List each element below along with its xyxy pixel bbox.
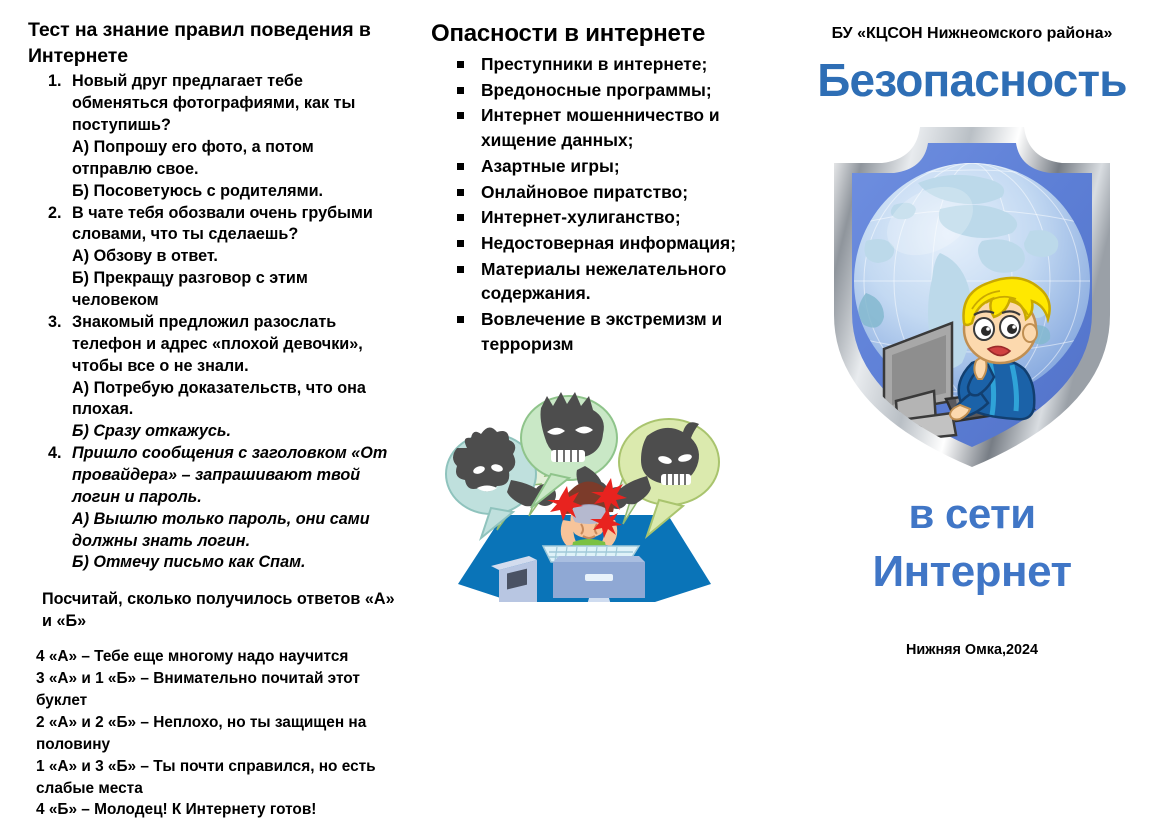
square-bullet-icon: [457, 214, 464, 221]
score-key-list: 4 «А» – Тебе еще многому надо научится 3…: [36, 646, 395, 821]
place-and-year: Нижняя Омка,2024: [789, 642, 1155, 658]
score-heading: Посчитай, сколько получилось ответов «А»…: [42, 588, 395, 632]
score-line: 4 «А» – Тебе еще многому надо научится: [36, 646, 395, 668]
answer-option-a: А) Обзову в ответ.: [72, 246, 395, 268]
answer-option-b: Б) Посоветуюсь с родителями.: [72, 181, 395, 203]
list-item-label: Материалы нежелательного содержания.: [481, 259, 726, 304]
list-item: Интернет-хулиганство;: [457, 205, 763, 230]
square-bullet-icon: [457, 87, 464, 94]
list-item-label: Недостоверная информация;: [481, 233, 736, 253]
cyberbullying-illustration: [433, 370, 733, 602]
page-subtitle: в сети Интернет: [789, 489, 1155, 598]
brochure-page: Тест на знание правил поведения в Интерн…: [0, 0, 1169, 827]
test-question-2: В чате тебя обозвали очень грубыми слова…: [66, 203, 395, 312]
shield-globe-illustration: [822, 113, 1122, 475]
list-item-label: Вовлечение в экстремизм и терроризм: [481, 309, 722, 354]
square-bullet-icon: [457, 240, 464, 247]
list-item-label: Интернет-хулиганство;: [481, 207, 681, 227]
score-line: 1 «А» и 3 «Б» – Ты почти справился, но е…: [36, 756, 395, 800]
column-left-test: Тест на знание правил поведения в Интерн…: [0, 0, 405, 827]
list-item: Вредоносные программы;: [457, 78, 763, 103]
question-text: Знакомый предложил разослать телефон и а…: [72, 312, 395, 378]
answer-option-b: Б) Прекращу разговор с этим человеком: [72, 268, 395, 312]
test-question-3: Знакомый предложил разослать телефон и а…: [66, 312, 395, 443]
answer-option-b: Б) Отмечу письмо как Спам.: [72, 552, 395, 574]
square-bullet-icon: [457, 189, 464, 196]
list-item: Азартные игры;: [457, 154, 763, 179]
test-question-list: Новый друг предлагает тебе обменяться фо…: [28, 71, 395, 574]
square-bullet-icon: [457, 112, 464, 119]
square-bullet-icon: [457, 163, 464, 170]
column-right-cover: БУ «КЦСОН Нижнеомского района» Безопасно…: [775, 0, 1169, 827]
score-line: 4 «Б» – Молодец! К Интернету готов!: [36, 799, 395, 821]
square-bullet-icon: [457, 316, 464, 323]
list-item-label: Вредоносные программы;: [481, 80, 712, 100]
test-question-1: Новый друг предлагает тебе обменяться фо…: [66, 71, 395, 202]
list-item: Недостоверная информация;: [457, 231, 763, 256]
question-text: Пришло сообщения с заголовком «От провай…: [72, 443, 395, 509]
list-item-label: Преступники в интернете;: [481, 54, 707, 74]
question-text: В чате тебя обозвали очень грубыми слова…: [72, 203, 395, 247]
list-item-label: Онлайновое пиратство;: [481, 182, 688, 202]
answer-option-a: А) Потребую доказательств, что она плоха…: [72, 378, 395, 422]
score-line: 2 «А» и 2 «Б» – Неплохо, но ты защищен н…: [36, 712, 395, 756]
page-title: Безопасность: [789, 56, 1155, 104]
square-bullet-icon: [457, 266, 464, 273]
question-text: Новый друг предлагает тебе обменяться фо…: [72, 71, 395, 137]
test-question-4: Пришло сообщения с заголовком «От провай…: [66, 443, 395, 574]
column-middle-dangers: Опасности в интернете Преступники в инте…: [405, 0, 775, 827]
score-line: 3 «А» и 1 «Б» – Внимательно почитай этот…: [36, 668, 395, 712]
square-bullet-icon: [457, 61, 464, 68]
list-item: Онлайновое пиратство;: [457, 180, 763, 205]
list-item-label: Азартные игры;: [481, 156, 620, 176]
list-item: Преступники в интернете;: [457, 52, 763, 77]
answer-option-b: Б) Сразу откажусь.: [72, 421, 395, 443]
answer-option-a: А) Попрошу его фото, а потом отправлю св…: [72, 137, 395, 181]
organization-name: БУ «КЦСОН Нижнеомского района»: [807, 24, 1137, 44]
test-title: Тест на знание правил поведения в Интерн…: [28, 18, 395, 69]
dangers-list: Преступники в интернете; Вредоносные про…: [427, 52, 763, 356]
subtitle-line-1: в сети: [908, 490, 1035, 537]
list-item: Материалы нежелательного содержания.: [457, 257, 763, 306]
list-item: Интернет мошенничество и хищение данных;: [457, 103, 763, 152]
subtitle-line-2: Интернет: [789, 546, 1155, 598]
answer-option-a: А) Вышлю только пароль, они сами должны …: [72, 509, 395, 553]
dangers-title: Опасности в интернете: [431, 20, 763, 48]
list-item-label: Интернет мошенничество и хищение данных;: [481, 105, 720, 150]
list-item: Вовлечение в экстремизм и терроризм: [457, 307, 763, 356]
